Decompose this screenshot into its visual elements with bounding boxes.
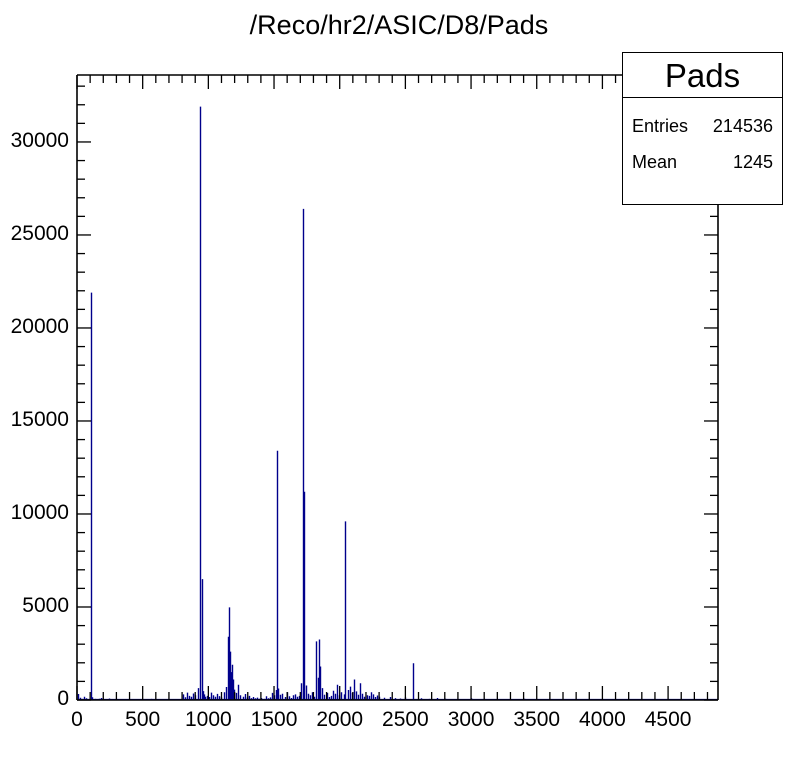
y-tick-label: 15000 bbox=[0, 408, 69, 432]
y-tick-label: 25000 bbox=[0, 222, 69, 246]
y-tick-label: 0 bbox=[0, 687, 69, 711]
histogram-trace bbox=[79, 107, 708, 700]
root-canvas: /Reco/hr2/ASIC/D8/Pads 05001000150020002… bbox=[0, 0, 798, 776]
stats-box[interactable]: Pads Entries 214536 Mean 1245 bbox=[622, 52, 783, 205]
y-tick-label: 30000 bbox=[0, 129, 69, 153]
x-tick-label: 4500 bbox=[628, 708, 708, 732]
stats-row-entries: Entries 214536 bbox=[623, 108, 782, 144]
stats-mean-key: Mean bbox=[632, 144, 677, 180]
y-tick-label: 10000 bbox=[0, 501, 69, 525]
y-tick-label: 5000 bbox=[0, 594, 69, 618]
y-tick-label: 20000 bbox=[0, 315, 69, 339]
stats-box-title: Pads bbox=[623, 53, 782, 98]
stats-entries-value: 214536 bbox=[713, 108, 773, 144]
stats-entries-key: Entries bbox=[632, 108, 688, 144]
stats-mean-value: 1245 bbox=[733, 144, 773, 180]
stats-row-mean: Mean 1245 bbox=[623, 144, 782, 180]
